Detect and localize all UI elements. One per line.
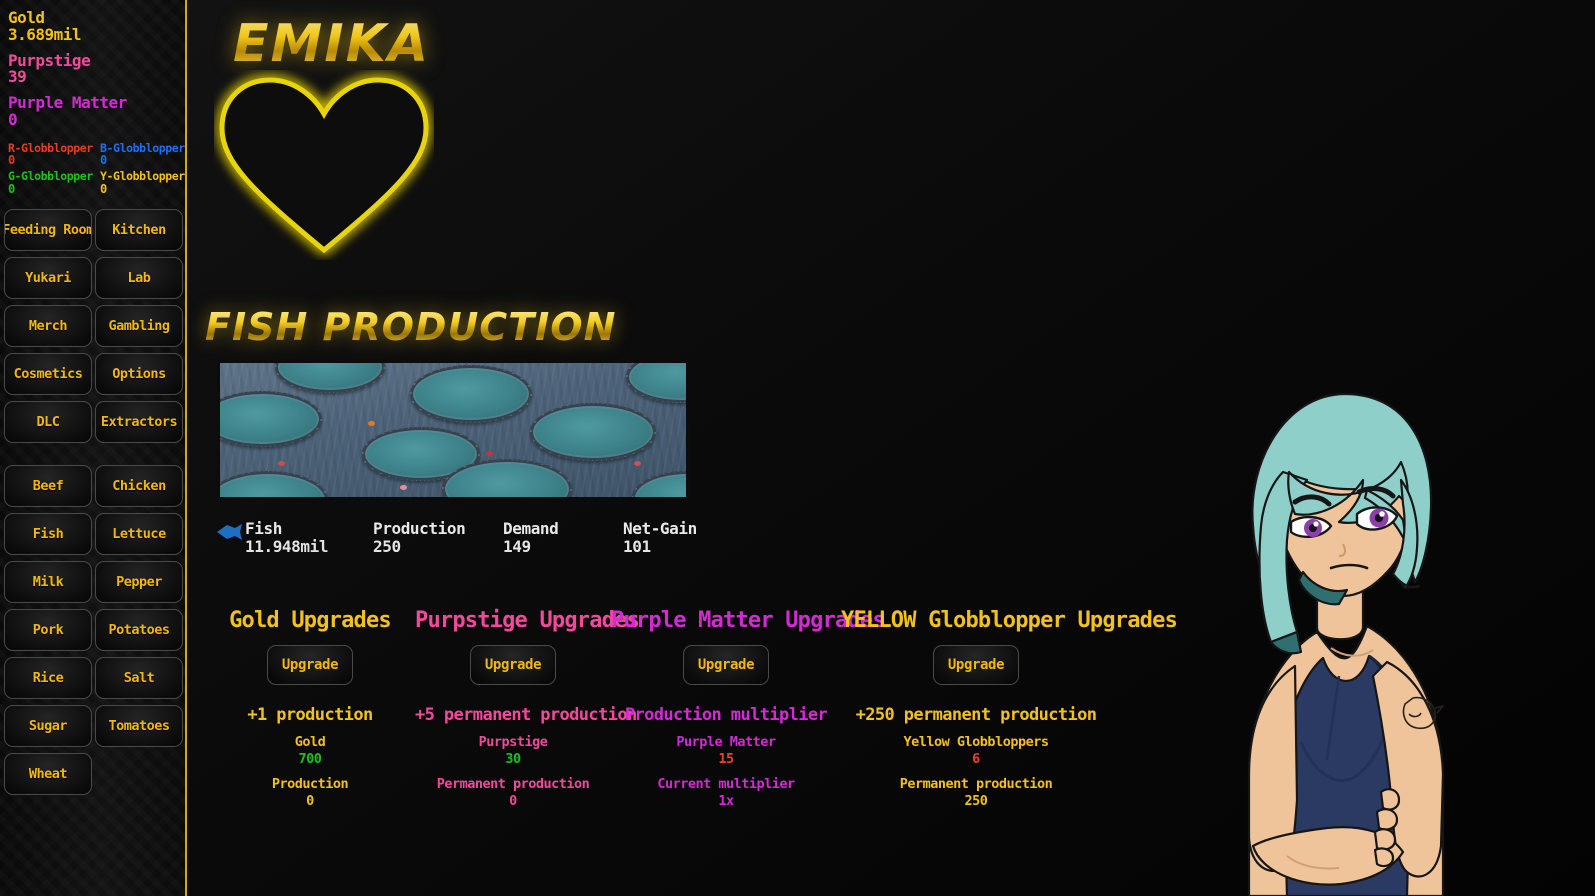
resource-gold-value: 3.689mil <box>8 27 185 44</box>
stat-fish: Fish 11.948mil <box>215 520 310 557</box>
stat-production-value: 250 <box>373 538 473 556</box>
stat-production: Production 250 <box>373 520 473 557</box>
stat-fish-value: 11.948mil <box>245 538 328 556</box>
sidebar-item-milk[interactable]: Milk <box>4 561 92 603</box>
sidebar-item-pepper[interactable]: Pepper <box>95 561 183 603</box>
sidebar-item-wheat[interactable]: Wheat <box>4 753 92 795</box>
upgrade-purpstige-effect: +5 permanent production <box>415 705 611 725</box>
upgrade-yellow-globblopper-heading: YELLOW Globblopper Upgrades <box>841 608 1111 633</box>
fish-icon <box>215 524 243 545</box>
upgrade-purpstige-cost-value: 30 <box>415 751 611 767</box>
sidebar-item-cosmetics[interactable]: Cosmetics <box>4 353 92 395</box>
upgrade-yellow-globblopper-effect: +250 permanent production <box>841 705 1111 725</box>
sidebar-item-chicken[interactable]: Chicken <box>95 465 183 507</box>
upgrade-gold-stat-label: Production <box>205 776 415 792</box>
globblopper-blue-label: B-Globblopper <box>100 142 187 154</box>
upgrade-column-purple-matter: Purple Matter Upgrades Upgrade Productio… <box>611 608 841 809</box>
yellow-globblopper-upgrade-button[interactable]: Upgrade <box>933 645 1019 685</box>
stat-demand-value: 149 <box>503 538 593 556</box>
upgrade-columns: Gold Upgrades Upgrade +1 production Gold… <box>205 608 1111 809</box>
sidebar-item-tomatoes[interactable]: Tomatoes <box>95 705 183 747</box>
upgrade-yellow-globblopper-cost-value: 6 <box>841 751 1111 767</box>
buoy <box>400 485 407 490</box>
fish-pen <box>530 403 656 461</box>
sidebar-item-potatoes[interactable]: Potatoes <box>95 609 183 651</box>
sidebar-nav-resources: Beef Chicken Fish Lettuce Milk Pepper Po… <box>0 443 185 795</box>
stat-demand: Demand 149 <box>503 520 593 557</box>
upgrade-purple-matter-heading: Purple Matter Upgrades <box>611 608 841 633</box>
globblopper-red-value: 0 <box>8 154 100 167</box>
sidebar-item-salt[interactable]: Salt <box>95 657 183 699</box>
globblopper-blue: B-Globblopper 0 <box>100 142 187 167</box>
fish-pen <box>410 365 532 423</box>
upgrade-yellow-globblopper-stat-value: 250 <box>841 793 1111 809</box>
buoy <box>368 421 375 426</box>
globblopper-panel: R-Globblopper 0 B-Globblopper 0 G-Globbl… <box>0 138 185 195</box>
upgrade-purple-matter-cost-value: 15 <box>611 751 841 767</box>
resource-purpstige-value: 39 <box>8 69 185 86</box>
upgrade-column-purpstige: Purpstige Upgrades Upgrade +5 permanent … <box>415 608 611 809</box>
sidebar-item-gambling[interactable]: Gambling <box>95 305 183 347</box>
sidebar-item-pork[interactable]: Pork <box>4 609 92 651</box>
sidebar-item-merch[interactable]: Merch <box>4 305 92 347</box>
resource-panel: Gold 3.689mil Purpstige 39 Purple Matter… <box>0 0 185 129</box>
globblopper-green: G-Globblopper 0 <box>8 170 100 195</box>
fish-farm-image <box>217 360 689 500</box>
resource-purpstige-label: Purpstige <box>8 53 185 70</box>
resource-purple-matter-value: 0 <box>8 112 185 129</box>
sidebar: Gold 3.689mil Purpstige 39 Purple Matter… <box>0 0 187 896</box>
globblopper-green-value: 0 <box>8 183 100 196</box>
upgrade-purpstige-heading: Purpstige Upgrades <box>415 608 611 633</box>
upgrade-purpstige-stat-value: 0 <box>415 793 611 809</box>
resource-gold: Gold 3.689mil <box>8 10 185 44</box>
globblopper-green-label: G-Globblopper <box>8 170 100 182</box>
sidebar-nav-primary: Feeding Room Kitchen Yukari Lab Merch Ga… <box>0 195 185 443</box>
upgrade-gold-cost-value: 700 <box>205 751 415 767</box>
upgrade-purple-matter-effect: Production multiplier <box>611 705 841 725</box>
gold-upgrade-button[interactable]: Upgrade <box>267 645 353 685</box>
globblopper-blue-value: 0 <box>100 154 187 167</box>
sidebar-item-beef[interactable]: Beef <box>4 465 92 507</box>
stat-fish-label: Fish <box>245 520 328 538</box>
stat-net-gain: Net-Gain 101 <box>623 520 697 557</box>
globblopper-red: R-Globblopper 0 <box>8 142 100 167</box>
stat-demand-label: Demand <box>503 520 593 538</box>
resource-purpstige: Purpstige 39 <box>8 53 185 87</box>
purpstige-upgrade-button[interactable]: Upgrade <box>470 645 556 685</box>
production-stats: Fish 11.948mil Production 250 Demand 149… <box>215 520 727 557</box>
globblopper-yellow-value: 0 <box>100 183 187 196</box>
sidebar-item-feeding-room[interactable]: Feeding Room <box>4 209 92 251</box>
sidebar-item-sugar[interactable]: Sugar <box>4 705 92 747</box>
character-portrait <box>1191 376 1491 896</box>
upgrade-gold-cost-label: Gold <box>205 734 415 750</box>
buoy <box>486 451 493 456</box>
stat-net-gain-label: Net-Gain <box>623 520 697 538</box>
globblopper-yellow: Y-Globblopper 0 <box>100 170 187 195</box>
upgrade-column-yellow-globblopper: YELLOW Globblopper Upgrades Upgrade +250… <box>841 608 1111 809</box>
upgrade-gold-effect: +1 production <box>205 705 415 725</box>
game-screen: Gold 3.689mil Purpstige 39 Purple Matter… <box>0 0 1595 896</box>
stat-production-label: Production <box>373 520 473 538</box>
section-title: FISH PRODUCTION <box>205 305 616 349</box>
upgrade-yellow-globblopper-cost-label: Yellow Globbloppers <box>841 734 1111 750</box>
sidebar-item-dlc[interactable]: DLC <box>4 401 92 443</box>
sidebar-item-fish[interactable]: Fish <box>4 513 92 555</box>
sidebar-item-options[interactable]: Options <box>95 353 183 395</box>
sidebar-item-lab[interactable]: Lab <box>95 257 183 299</box>
resource-purple-matter-label: Purple Matter <box>8 95 185 112</box>
sidebar-item-lettuce[interactable]: Lettuce <box>95 513 183 555</box>
heart-icon <box>214 70 434 260</box>
main-panel: EMIKA FISH PRODUCTION <box>187 0 1595 896</box>
upgrade-purple-matter-stat-label: Current multiplier <box>611 776 841 792</box>
purple-matter-upgrade-button[interactable]: Upgrade <box>683 645 769 685</box>
upgrade-purple-matter-stat-value: 1x <box>611 793 841 809</box>
upgrade-purpstige-cost-label: Purpstige <box>415 734 611 750</box>
upgrade-yellow-globblopper-stat-label: Permanent production <box>841 776 1111 792</box>
sidebar-item-kitchen[interactable]: Kitchen <box>95 209 183 251</box>
buoy <box>634 461 641 466</box>
upgrade-gold-stat-value: 0 <box>205 793 415 809</box>
sidebar-item-yukari[interactable]: Yukari <box>4 257 92 299</box>
buoy <box>278 461 285 466</box>
upgrade-gold-heading: Gold Upgrades <box>205 608 415 633</box>
sidebar-item-extractors[interactable]: Extractors <box>95 401 183 443</box>
sidebar-item-rice[interactable]: Rice <box>4 657 92 699</box>
upgrade-purple-matter-cost-label: Purple Matter <box>611 734 841 750</box>
globblopper-yellow-label: Y-Globblopper <box>100 170 187 182</box>
page-title: EMIKA <box>233 14 430 74</box>
stat-net-gain-value: 101 <box>623 538 697 556</box>
upgrade-purpstige-stat-label: Permanent production <box>415 776 611 792</box>
upgrade-column-gold: Gold Upgrades Upgrade +1 production Gold… <box>205 608 415 809</box>
resource-purple-matter: Purple Matter 0 <box>8 95 185 129</box>
globblopper-red-label: R-Globblopper <box>8 142 100 154</box>
